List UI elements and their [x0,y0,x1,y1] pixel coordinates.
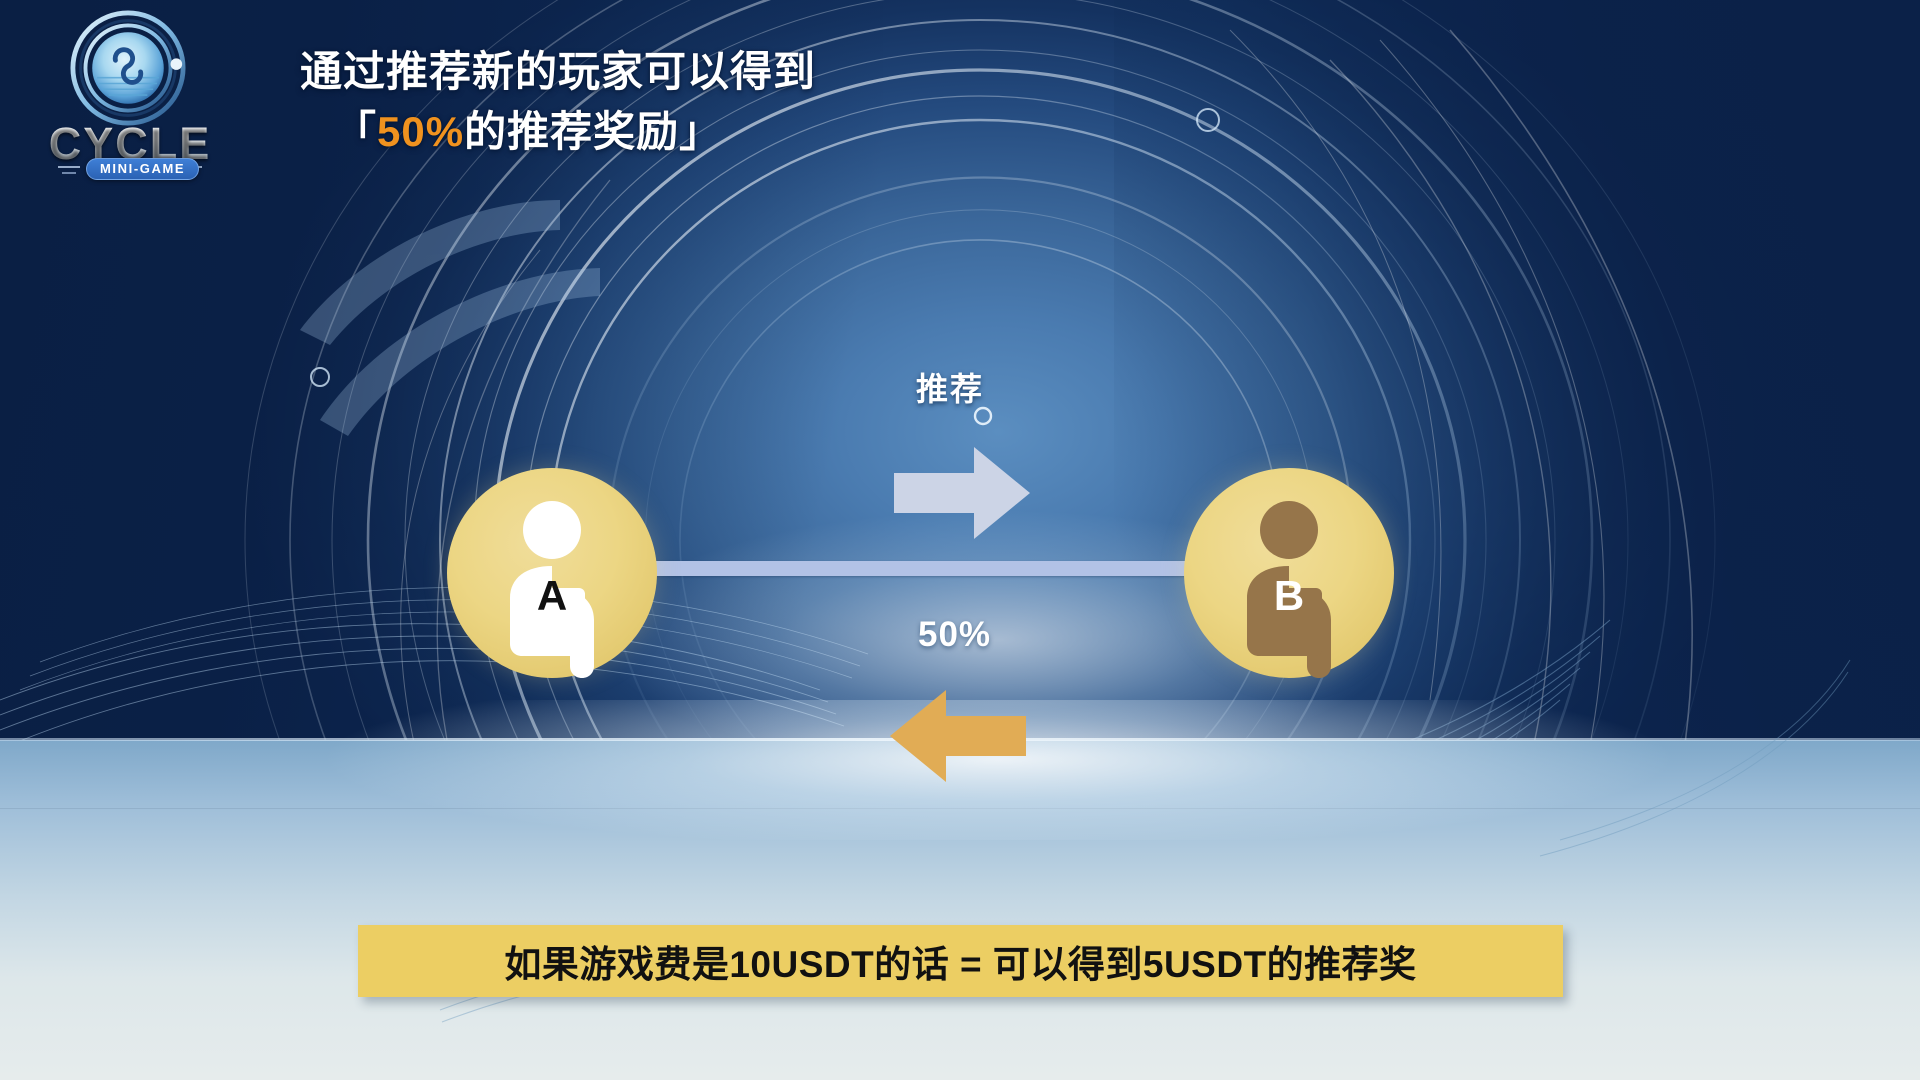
percent-label: 50% [918,615,991,655]
node-a-letter: A [447,572,657,620]
headline-line-2: 「50%的推荐奖励」 [300,102,1140,162]
node-player-b[interactable]: B [1184,468,1394,678]
page-title: 通过推荐新的玩家可以得到 「50%的推荐奖励」 [300,42,1140,161]
app-logo[interactable]: CYCLE MINI-GAME [30,8,230,183]
infinity-coin-icon [70,10,186,126]
headline-line-2-rest: 的推荐奖励」 [464,108,722,155]
referral-link-bar [656,561,1201,576]
node-b-letter: B [1184,572,1394,620]
headline-line-1: 通过推荐新的玩家可以得到 [300,48,816,95]
arrow-right-icon [894,447,1030,539]
node-player-a[interactable]: A [447,468,657,678]
slide-canvas: CYCLE MINI-GAME 通过推荐新的玩家可以得到 「50%的推荐奖励」 … [0,0,1920,1080]
logo-tick-left [58,166,80,168]
refer-label: 推荐 [916,364,984,410]
headline-accent: 50% [377,108,464,155]
summary-banner: 如果游戏费是10USDT的话 = 可以得到5USDT的推荐奖 [358,925,1563,997]
summary-banner-text: 如果游戏费是10USDT的话 = 可以得到5USDT的推荐奖 [504,934,1416,988]
arrow-left-icon [890,690,1026,782]
logo-tick2-left [62,172,76,174]
headline-bracket-open: 「 [334,108,377,155]
logo-badge: MINI-GAME [86,158,199,180]
